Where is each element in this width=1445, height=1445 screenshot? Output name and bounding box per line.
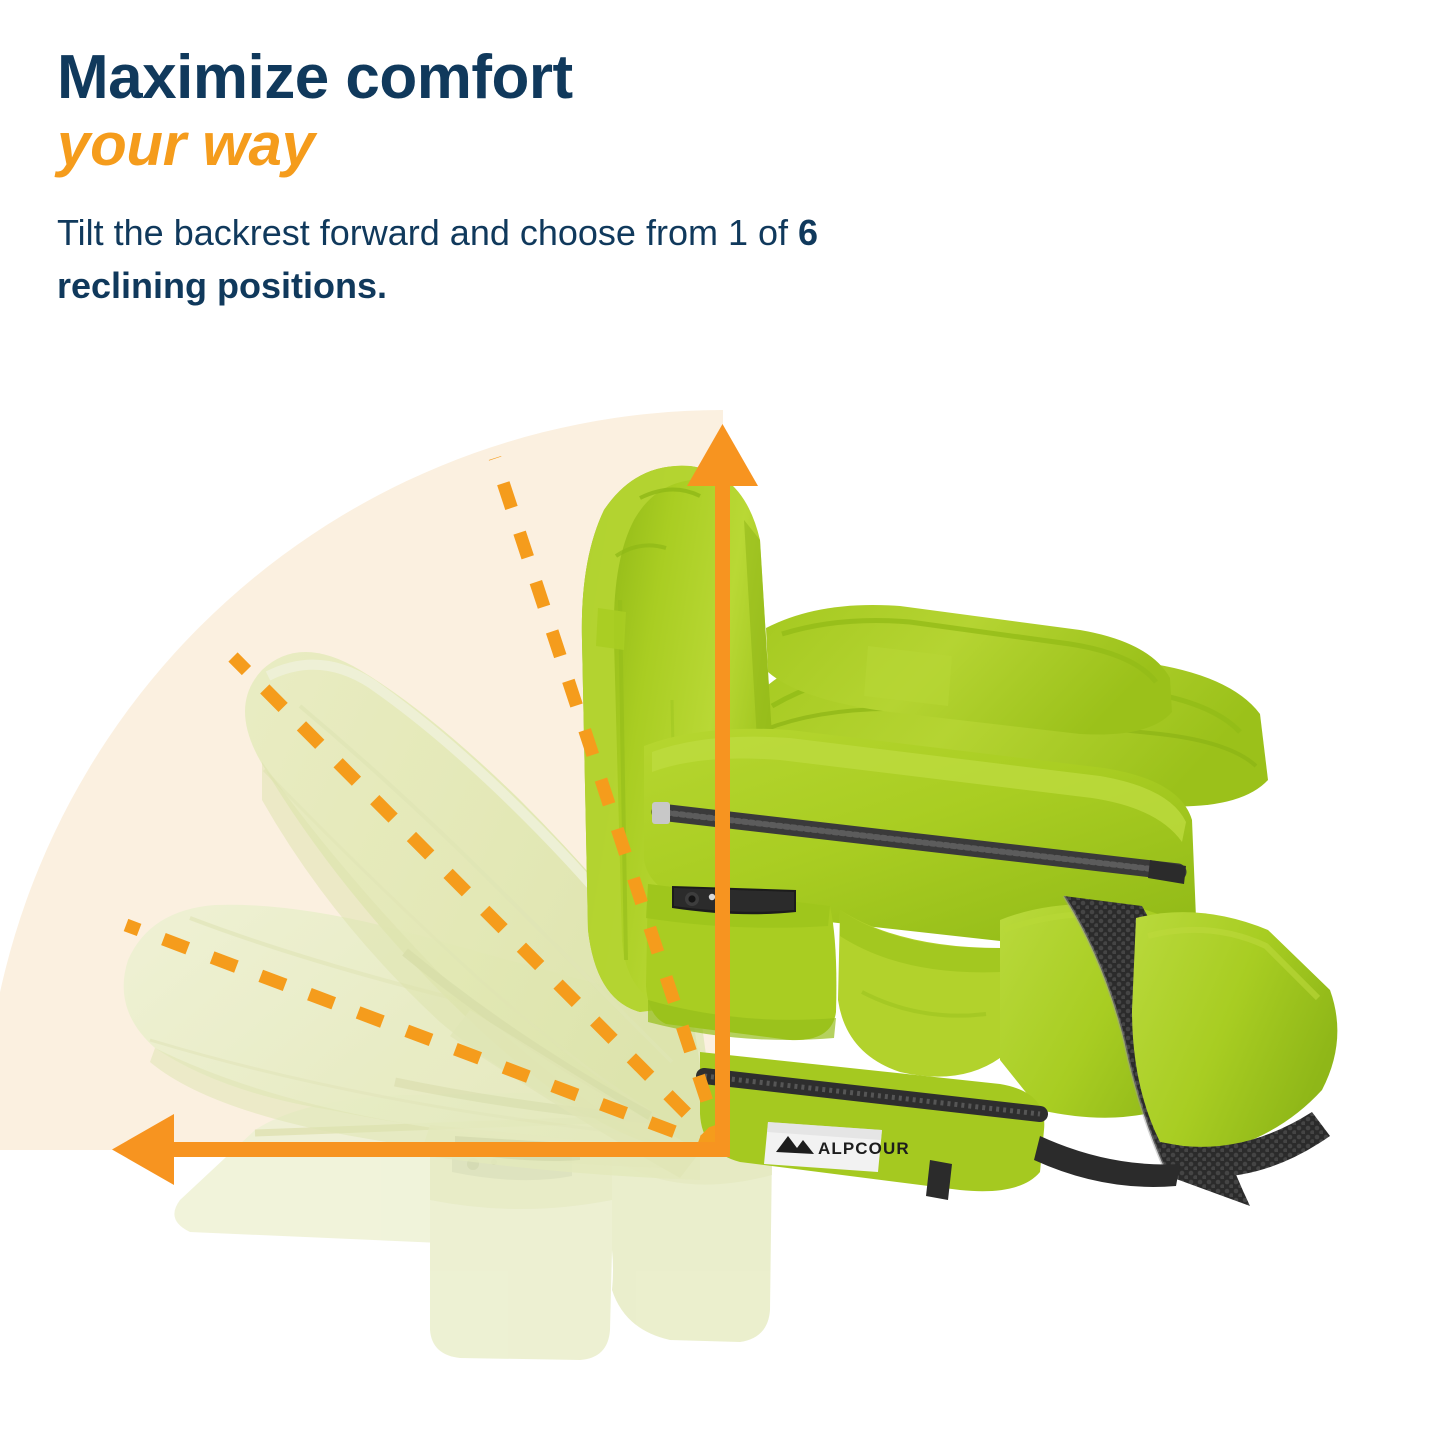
reclining-positions-diagram: ALPCOUR <box>0 0 1445 1445</box>
infographic-canvas: Maximize comfort your way Tilt the backr… <box>0 0 1445 1445</box>
smartphone <box>672 886 796 914</box>
phone-pocket <box>646 884 836 1040</box>
svg-text:ALPCOUR: ALPCOUR <box>818 1139 910 1158</box>
footrest-panel <box>1132 912 1337 1177</box>
